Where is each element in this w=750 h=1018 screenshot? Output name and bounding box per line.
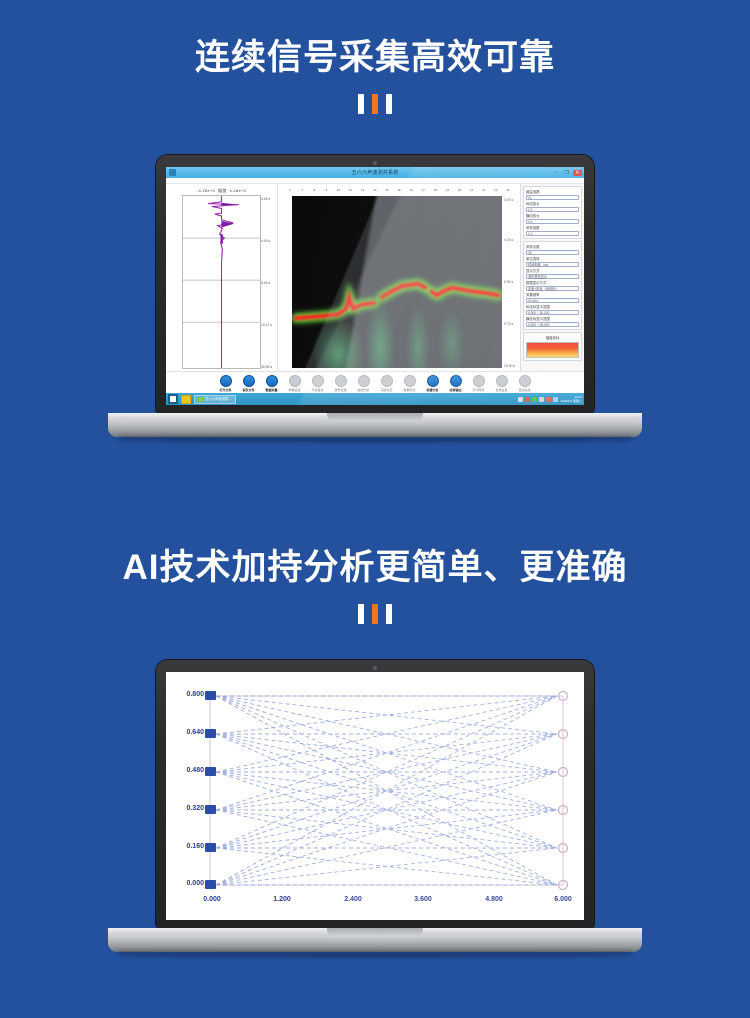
system-tray[interactable]: 13:04 2020/9/1 星期二 [518, 395, 582, 403]
axis-tick: 6.00 s [261, 281, 270, 285]
divider-2 [0, 604, 750, 624]
start-button[interactable] [168, 394, 178, 404]
x-range-input[interactable]: 0.000 ~ 25.000 [526, 322, 579, 327]
taskbar-clock[interactable]: 13:04 2020/9/1 星期二 [560, 395, 582, 403]
spectrogram-top-ticks: 678 91011 121314 151617 181920 212223 25 [278, 187, 520, 193]
page-title-2: AI技术加持分析更简单、更准确 [0, 548, 750, 588]
toolbar-button-print[interactable]: 打印预览 [470, 375, 488, 392]
svg-text:15: 15 [397, 188, 401, 192]
section-ai-analysis: AI技术加持分析更简单、更准确 [0, 548, 750, 624]
file-explorer-icon[interactable] [181, 395, 191, 404]
toolbar-button-open-file[interactable]: 打开文件 [217, 375, 235, 392]
field-label: 采样倍数 [526, 225, 579, 230]
toolbar-button-settings[interactable]: 系统设置 [493, 375, 511, 392]
svg-text:9: 9 [326, 188, 328, 192]
y-tick-label: 0.000 [170, 880, 204, 887]
svg-text:17: 17 [422, 188, 426, 192]
axis-tick: 30.50 s [261, 365, 272, 369]
svg-text:12: 12 [361, 188, 365, 192]
x-tick-label: 2.400 [337, 896, 369, 903]
svg-text:6: 6 [289, 188, 291, 192]
page-title-1: 连续信号采集高效可靠 [0, 38, 750, 78]
laptop-two-shadow [118, 952, 632, 957]
exit-icon [519, 375, 531, 387]
app-titlebar: 五六六声波测井系统 – ❐ ✕ [166, 167, 584, 178]
option-label: 纵坐标显示范围 [526, 304, 579, 309]
promo-page: 连续信号采集高效可靠 五六六声波测井系统 – ❐ ✕ [0, 0, 750, 1018]
x-tick-label: 6.000 [547, 896, 579, 903]
axis-tick: 3.00 s [261, 197, 270, 201]
divider-1 [0, 94, 750, 114]
svg-text:20: 20 [458, 188, 462, 192]
sample-count-input[interactable]: 25 [526, 250, 579, 255]
x-tick-label: 0.000 [196, 896, 228, 903]
toolbar-button-params[interactable]: 参数设置 [286, 375, 304, 392]
svg-text:19: 19 [446, 188, 450, 192]
svg-text:18: 18 [434, 188, 438, 192]
toolbar-button-report[interactable]: 成果输出 [447, 375, 465, 392]
acquisition-app-window: 五六六声波测井系统 – ❐ ✕ -4.28e+0 [166, 167, 584, 405]
y-range-input[interactable]: 0.000 ~ 30.000 [526, 310, 579, 315]
waveform-axis-left: 3.00 ms 4.00 ms 6.00 ms 12.00 ms 30.00 m… [166, 195, 182, 369]
window-title: 五六六声波测井系统 [166, 169, 584, 176]
spectrum-icon [427, 375, 439, 387]
toolbar-label: 深度标定 [380, 388, 392, 392]
option-label: 采集频率 [526, 292, 579, 297]
toolbar-button-acquire[interactable]: 数据采集 [263, 375, 281, 392]
control-panel[interactable]: 增益倍数 10 纵向放大 1.0 横向放大 0.1 采样倍数 1.0 采样点数 [520, 184, 584, 371]
close-button[interactable]: ✕ [573, 170, 582, 176]
app-toolbar[interactable]: 打开文件 保存文件 数据采集 参数设置 [166, 371, 584, 393]
gain-input[interactable]: 10 [526, 195, 579, 200]
waveform-scale-max: 4.28e+0 [229, 188, 246, 193]
tray-alert-icon[interactable] [525, 397, 530, 402]
laptop-one-lid: 五六六声波测井系统 – ❐ ✕ -4.28e+0 [156, 155, 594, 413]
svg-text:22: 22 [482, 188, 486, 192]
svg-text:23: 23 [494, 188, 498, 192]
toolbar-label: 系统设置 [495, 388, 507, 392]
y-tick-label: 0.160 [170, 843, 204, 850]
toolbar-label: 声波首波 [311, 388, 323, 392]
toolbar-label: 数据采集 [265, 388, 277, 392]
svg-text:11: 11 [349, 188, 352, 192]
folder-open-icon [220, 375, 232, 387]
sample-multiplier-input[interactable]: 1.0 [526, 231, 579, 236]
divider-bar-white-left [358, 94, 364, 114]
svg-text:25: 25 [506, 188, 510, 192]
svg-text:14: 14 [385, 188, 389, 192]
wave-icon [312, 375, 324, 387]
spectrogram-panel[interactable]: 678 91011 121314 151617 181920 212223 25 [278, 184, 520, 371]
printer-icon [473, 375, 485, 387]
option-label: 显示方式 [526, 268, 579, 273]
option-label: 数据显示方式 [526, 280, 579, 285]
app-tile-icon [198, 397, 203, 402]
y-tick-label: 0.480 [170, 767, 204, 774]
field-label: 增益倍数 [526, 189, 579, 194]
waveform-scale-min: -4.28e+0 [197, 188, 215, 193]
gear-icon [496, 375, 508, 387]
export-icon [404, 375, 416, 387]
axis-tick: 10.17 s [261, 323, 272, 327]
toolbar-button-export[interactable]: 数据导出 [401, 375, 419, 392]
laptop-two-screen: 0.800 0.640 0.480 0.320 0.160 0.000 0.00… [166, 672, 584, 920]
divider-bar-white-left [358, 604, 364, 624]
save-icon [243, 375, 255, 387]
toolbar-label: 波形处理 [334, 388, 346, 392]
taskbar-app-label: 五六六声波测井... [205, 395, 232, 404]
toolbar-label: 频谱分析 [426, 388, 438, 392]
divider-bar-white-right [386, 604, 392, 624]
y-tick-label: 0.640 [170, 729, 204, 736]
option-label: 单位选择 [526, 256, 579, 261]
maximize-button[interactable]: ❐ [562, 170, 571, 176]
toolbar-button-depth[interactable]: 深度标定 [378, 375, 396, 392]
axis-tick: 3.00 s [504, 198, 513, 202]
tray-shield-icon[interactable] [546, 397, 551, 402]
axis-tick: 6.50 s [504, 280, 513, 284]
toolbar-label: 曲线分析 [357, 388, 369, 392]
windows-logo-icon [170, 396, 176, 402]
field-label: 横向放大 [526, 213, 579, 218]
display-mode-select[interactable]: 波形叠加显示 [526, 274, 579, 279]
amplitude-color-legend: 幅值色标 [523, 332, 582, 361]
svg-text:7: 7 [301, 188, 303, 192]
svg-text:21: 21 [470, 188, 474, 192]
taskbar-app-item[interactable]: 五六六声波测井... [194, 395, 236, 404]
laptop-one-screen: 五六六声波测井系统 – ❐ ✕ -4.28e+0 [166, 167, 584, 405]
tray-volume-icon[interactable] [539, 397, 544, 402]
laptop-one-shadow [118, 437, 632, 442]
tray-network-icon[interactable] [532, 397, 537, 402]
x-tick-label: 4.800 [478, 896, 510, 903]
spectrogram-axis-left: 3.00 ms 4.17 ms 6.00 ms 8.75 ms 19.00 ms [276, 196, 292, 369]
waveform-header: -4.28e+0 幅度 4.28e+0 [168, 188, 275, 194]
field-label: 纵向放大 [526, 201, 579, 206]
sample-count-label: 采样点数 [526, 244, 579, 249]
ruler-icon [381, 375, 393, 387]
laptop-one-base [108, 413, 642, 437]
legend-gradient-bar [526, 342, 579, 358]
clock-date: 2020/9/1 星期二 [560, 399, 582, 403]
minimize-button[interactable]: – [551, 170, 560, 176]
toolbar-label: 打开文件 [219, 388, 231, 392]
laptop-two-base [108, 928, 642, 952]
spectrogram-canvas [292, 196, 502, 368]
toolbar-button-exit[interactable]: 退出系统 [516, 375, 534, 392]
svg-text:10: 10 [337, 188, 341, 192]
horizontal-zoom-input[interactable]: 0.1 [526, 219, 579, 224]
curve-icon [358, 375, 370, 387]
vertical-zoom-input[interactable]: 1.0 [526, 207, 579, 212]
report-icon [450, 375, 462, 387]
tray-keyboard-icon[interactable] [518, 397, 523, 402]
toolbar-button-process[interactable]: 波形处理 [332, 375, 350, 392]
axis-tick: 19.00 s [504, 364, 515, 368]
toolbar-button-firstwave[interactable]: 声波首波 [309, 375, 327, 392]
toolbar-label: 成果输出 [449, 388, 461, 392]
data-display-select[interactable]: 灰度+彩色（伪彩色） [526, 286, 579, 291]
y-tick-label: 0.800 [170, 691, 204, 698]
tray-cloud-icon[interactable] [553, 397, 558, 402]
spectrogram-image [292, 196, 502, 368]
toolbar-button-spectrum[interactable]: 频谱分析 [424, 375, 442, 392]
waveform-axis-right: 3.00 s 4.00 s 6.00 s 10.17 s 30.50 s [261, 195, 277, 369]
divider-bar-white-right [386, 94, 392, 114]
axis-tick: 9.70 s [504, 322, 513, 326]
app-body: -4.28e+0 幅度 4.28e+0 3.00 ms 4.00 ms 6.00… [166, 184, 584, 371]
waveform-trace-svg [183, 196, 260, 368]
svg-text:8: 8 [313, 188, 315, 192]
axis-tick: 4.20 s [504, 238, 513, 242]
laptop-two-lid: 0.800 0.640 0.480 0.320 0.160 0.000 0.00… [156, 660, 594, 928]
waveform-plot [182, 195, 261, 369]
window-controls[interactable]: – ❐ ✕ [551, 170, 582, 176]
toolbar-button-curve[interactable]: 曲线分析 [355, 375, 373, 392]
spectrogram-axis-right: 3.00 s 4.20 s 6.50 s 9.70 s 19.00 s [504, 196, 520, 369]
unit-select[interactable]: 时间刻度（us） [526, 262, 579, 267]
sample-count-group[interactable]: 采样点数 25 单位选择 时间刻度（us） 显示方式 波形叠加显示 数据显示方式… [523, 241, 582, 330]
x-tick-label: 3.600 [407, 896, 439, 903]
gain-settings-group[interactable]: 增益倍数 10 纵向放大 1.0 横向放大 0.1 采样倍数 1.0 [523, 186, 582, 239]
axis-tick: 4.00 s [261, 239, 270, 243]
toolbar-label: 参数设置 [288, 388, 300, 392]
divider-bar-orange [372, 94, 378, 114]
y-tick-label: 0.320 [170, 805, 204, 812]
network-chart[interactable]: 0.800 0.640 0.480 0.320 0.160 0.000 0.00… [166, 672, 584, 920]
option-label: 横坐标显示范围 [526, 316, 579, 321]
sample-rate-select[interactable]: 20 kHz [526, 298, 579, 303]
sliders-icon [289, 375, 301, 387]
toolbar-label: 数据导出 [403, 388, 415, 392]
network-chart-svg [166, 672, 584, 920]
svg-text:13: 13 [373, 188, 377, 192]
x-tick-label: 1.200 [266, 896, 298, 903]
toolbar-button-save-file[interactable]: 保存文件 [240, 375, 258, 392]
waveform-scale-title: 幅度 [218, 188, 227, 193]
divider-bar-orange [372, 604, 378, 624]
toolbar-label: 退出系统 [518, 388, 530, 392]
network-chart-window: 0.800 0.640 0.480 0.320 0.160 0.000 0.00… [166, 672, 584, 920]
top-tick-marks: 678 91011 121314 151617 181920 212223 25 [278, 187, 520, 193]
legend-title: 幅值色标 [526, 335, 579, 340]
waveform-panel[interactable]: -4.28e+0 幅度 4.28e+0 3.00 ms 4.00 ms 6.00… [166, 184, 278, 371]
toolbar-label: 打印预览 [472, 388, 484, 392]
toolbar-label: 保存文件 [242, 388, 254, 392]
process-icon [335, 375, 347, 387]
windows-taskbar[interactable]: 五六六声波测井... 13:04 2020/9/1 星期二 [166, 393, 584, 405]
section-continuous-acquisition: 连续信号采集高效可靠 [0, 38, 750, 114]
record-icon [266, 375, 278, 387]
screen-glare-overlay [292, 196, 502, 368]
svg-text:16: 16 [409, 188, 413, 192]
